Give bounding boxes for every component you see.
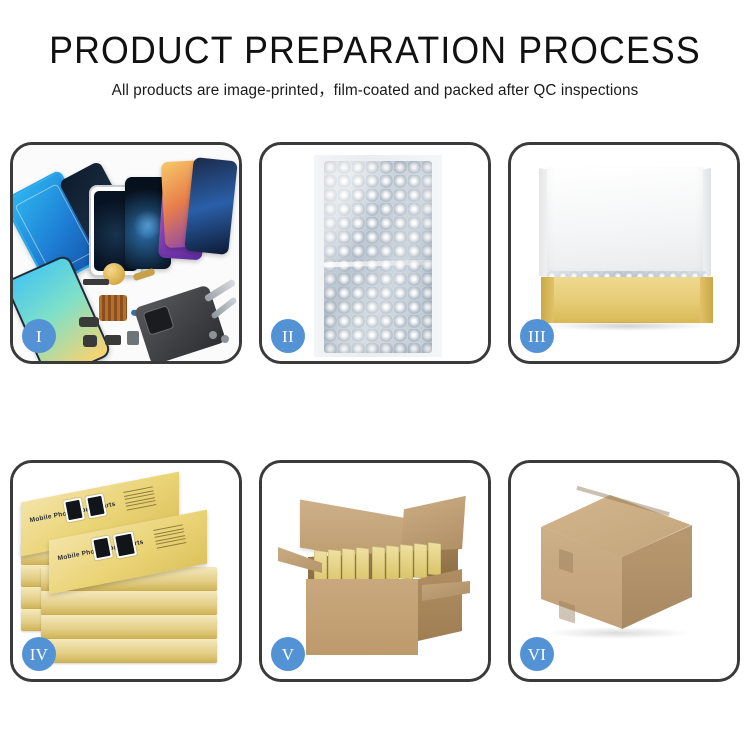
step-badge-4: IV: [22, 637, 56, 671]
step-panel-4: Mobile Phone Spare Parts Mobile Phone Sp…: [10, 460, 242, 682]
box-side-left: [541, 277, 554, 323]
packed-box: [414, 543, 427, 579]
part-connector: [79, 317, 99, 327]
stacked-box: [41, 591, 217, 615]
part-metal-bracket: [127, 331, 139, 345]
product-preparation-infographic: PRODUCT PREPARATION PROCESS All products…: [0, 0, 750, 750]
page-title: PRODUCT PREPARATION PROCESS: [23, 30, 728, 72]
part-chip-grid: [99, 295, 127, 321]
step-panel-5: V: [259, 460, 491, 682]
packed-box: [428, 542, 441, 576]
box-yellow-base: [541, 277, 713, 323]
page-subtitle: All products are image-printed，film-coat…: [6, 81, 745, 101]
header: PRODUCT PREPARATION PROCESS All products…: [0, 0, 750, 101]
step-badge-5: V: [271, 637, 305, 671]
carton-tape-patch: [559, 549, 573, 574]
bubble-wrap-sheen: [324, 161, 432, 353]
part-camera-module: [83, 335, 97, 347]
stacked-box: [41, 615, 217, 639]
step-badge-3: III: [520, 319, 554, 353]
part-screw: [209, 331, 217, 339]
step-badge-1: I: [22, 319, 56, 353]
step-panel-1: I: [10, 142, 242, 364]
carton-side-face: [418, 569, 462, 641]
steps-grid: I II: [10, 142, 740, 738]
carton-front-face: [306, 579, 418, 655]
box-screen-graphic: [63, 497, 85, 522]
box-screen-graphic: [91, 535, 113, 560]
carton-shadow: [545, 627, 691, 639]
step-badge-6: VI: [520, 637, 554, 671]
packed-box: [400, 544, 413, 580]
step-badge-2: II: [271, 319, 305, 353]
box-shadow: [545, 321, 709, 331]
part-flex-strip: [83, 279, 109, 285]
box-screen-graphic: [113, 531, 137, 558]
box-side-right: [700, 277, 713, 323]
part-button-flex: [105, 335, 121, 345]
packed-box: [386, 545, 399, 581]
part-screw-2: [221, 335, 229, 343]
step-panel-3: III: [508, 142, 740, 364]
step-panel-2: II: [259, 142, 491, 364]
box-white-lid: [547, 167, 703, 281]
packed-box: [372, 546, 385, 582]
stacked-box: [41, 639, 217, 663]
box-screen-graphic: [85, 493, 107, 518]
step-panel-6: VI: [508, 460, 740, 682]
